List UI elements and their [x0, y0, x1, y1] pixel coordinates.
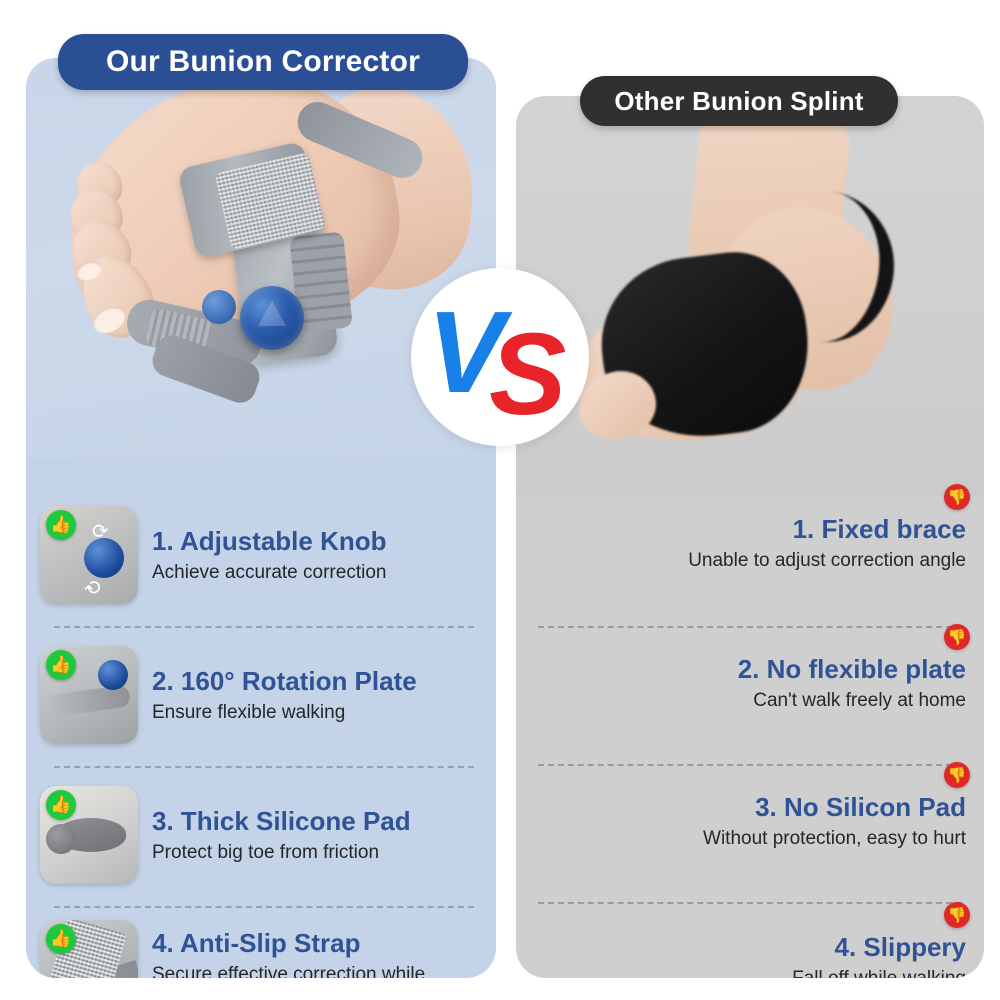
rotation-plate-shape [47, 684, 131, 717]
versus-letter-v: V [427, 294, 504, 410]
left-feature-item-2: 👍 2. 160° Rotation Plate Ensure flexible… [26, 646, 496, 744]
right-panel-title: Other Bunion Splint [614, 86, 863, 117]
feature-text-3: 👎 3. No Silicon Pad Without protection, … [703, 792, 966, 850]
feature-subtitle: Fall off while walking [792, 967, 966, 978]
left-panel-title-badge: Our Bunion Corrector [58, 34, 468, 90]
right-feature-list: 👎 1. Fixed brace Unable to adjust correc… [516, 496, 984, 978]
knob-shape [98, 660, 128, 690]
feature-divider [538, 902, 962, 904]
feature-title: 2. 160° Rotation Plate [152, 666, 417, 697]
feature-title: 4. Slippery [792, 932, 966, 963]
feature-subtitle: Protect big toe from friction [152, 841, 411, 864]
feature-subtitle: Can't walk freely at home [738, 689, 966, 712]
right-panel-title-badge: Other Bunion Splint [580, 76, 898, 126]
feature-divider [538, 764, 962, 766]
feature-thumbnail-2: 👍 [40, 646, 138, 744]
feature-text-3: 3. Thick Silicone Pad Protect big toe fr… [152, 806, 411, 864]
left-product-panel: ⟳ ⟳ 👍 1. Adjustable Knob Achieve accurat… [26, 58, 496, 978]
comparison-infographic: ⟳ ⟳ 👍 1. Adjustable Knob Achieve accurat… [0, 0, 1000, 1000]
brace-adjustment-knob [240, 286, 304, 350]
feature-subtitle: Unable to adjust correction angle [688, 549, 966, 572]
thumbs-down-icon: 👎 [944, 484, 970, 510]
thumbs-down-icon: 👎 [944, 624, 970, 650]
thumbs-up-icon: 👍 [46, 790, 76, 820]
feature-text-2: 2. 160° Rotation Plate Ensure flexible w… [152, 666, 417, 724]
feature-divider [54, 766, 474, 768]
right-feature-item-3: 👎 3. No Silicon Pad Without protection, … [516, 792, 984, 850]
right-product-photo [516, 96, 984, 496]
feature-text-1: 1. Adjustable Knob Achieve accurate corr… [152, 526, 387, 584]
thumbs-up-icon: 👍 [46, 650, 76, 680]
left-feature-item-4: 👍 4. Anti-Slip Strap Secure effective co… [26, 920, 496, 978]
feature-title: 4. Anti-Slip Strap [152, 928, 496, 959]
knob-shape [84, 538, 124, 578]
left-feature-item-1: ⟳ ⟳ 👍 1. Adjustable Knob Achieve accurat… [26, 506, 496, 604]
left-panel-title: Our Bunion Corrector [106, 45, 420, 79]
pad-disc-shape [46, 824, 76, 854]
feature-subtitle: Without protection, easy to hurt [703, 827, 966, 850]
feature-thumbnail-4: 👍 [40, 920, 138, 978]
brace-small-knob [202, 290, 236, 324]
right-product-panel: 👎 1. Fixed brace Unable to adjust correc… [516, 96, 984, 978]
feature-subtitle: Ensure flexible walking [152, 701, 417, 724]
feature-title: 1. Fixed brace [688, 514, 966, 545]
thumbs-down-icon: 👎 [944, 762, 970, 788]
feature-text-4: 4. Anti-Slip Strap Secure effective corr… [152, 928, 496, 978]
feature-subtitle: Secure effective correction while moveme… [152, 963, 496, 978]
feature-thumbnail-3: 👍 [40, 786, 138, 884]
thumbs-up-icon: 👍 [46, 510, 76, 540]
rotation-arrow-icon: ⟳ [84, 576, 101, 596]
right-feature-item-4: 👎 4. Slippery Fall off while walking [516, 932, 984, 978]
feature-text-1: 👎 1. Fixed brace Unable to adjust correc… [688, 514, 966, 572]
left-feature-item-3: 👍 3. Thick Silicone Pad Protect big toe … [26, 786, 496, 884]
thumbs-up-icon: 👍 [46, 924, 76, 954]
feature-divider [538, 626, 962, 628]
feature-title: 3. Thick Silicone Pad [152, 806, 411, 837]
feature-divider [54, 626, 474, 628]
feature-divider [54, 906, 474, 908]
right-feature-item-2: 👎 2. No flexible plate Can't walk freely… [516, 654, 984, 712]
left-feature-list: ⟳ ⟳ 👍 1. Adjustable Knob Achieve accurat… [26, 458, 496, 978]
feature-thumbnail-1: ⟳ ⟳ 👍 [40, 506, 138, 604]
feature-subtitle: Achieve accurate correction [152, 561, 387, 584]
feature-text-2: 👎 2. No flexible plate Can't walk freely… [738, 654, 966, 712]
feature-text-4: 👎 4. Slippery Fall off while walking [792, 932, 966, 978]
right-feature-item-1: 👎 1. Fixed brace Unable to adjust correc… [516, 514, 984, 572]
feature-title: 3. No Silicon Pad [703, 792, 966, 823]
versus-badge: V S [411, 268, 589, 446]
feature-title: 1. Adjustable Knob [152, 526, 387, 557]
thumbs-down-icon: 👎 [944, 902, 970, 928]
feature-title: 2. No flexible plate [738, 654, 966, 685]
rotation-arrow-icon: ⟳ [92, 522, 109, 542]
